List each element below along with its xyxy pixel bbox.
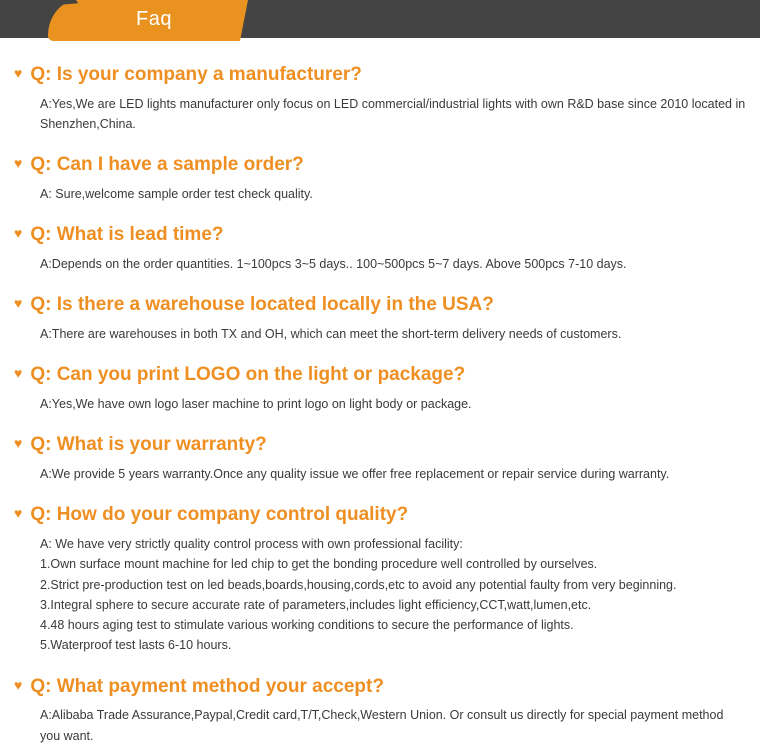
faq-answer-line: 5.Waterproof test lasts 6-10 hours. <box>40 635 746 655</box>
faq-answer: A:Alibaba Trade Assurance,Paypal,Credit … <box>14 705 746 746</box>
faq-answer-line: 2.Strict pre-production test on led bead… <box>40 575 746 595</box>
faq-question: ♥ Q: How do your company control quality… <box>14 503 746 527</box>
faq-answer-line: 4.48 hours aging test to stimulate vario… <box>40 615 746 635</box>
faq-question: ♥ Q: Can I have a sample order? <box>14 153 746 177</box>
faq-question: ♥ Q: What is lead time? <box>14 223 746 247</box>
faq-question-text: Q: Can you print LOGO on the light or pa… <box>30 363 465 387</box>
faq-item: ♥ Q: Is your company a manufacturer? A:Y… <box>14 63 746 134</box>
faq-answer-line: 3.Integral sphere to secure accurate rat… <box>40 595 746 615</box>
page-title: Faq <box>48 0 248 38</box>
faq-item: ♥ Q: What payment method your accept? A:… <box>14 675 746 746</box>
faq-question-text: Q: Can I have a sample order? <box>30 153 303 177</box>
faq-answer: A:We provide 5 years warranty.Once any q… <box>14 464 746 484</box>
heart-icon: ♥ <box>14 296 22 310</box>
faq-list: ♥ Q: Is your company a manufacturer? A:Y… <box>0 41 760 746</box>
faq-question: ♥ Q: Can you print LOGO on the light or … <box>14 363 746 387</box>
heart-icon: ♥ <box>14 366 22 380</box>
faq-item: ♥ Q: What is lead time? A:Depends on the… <box>14 223 746 274</box>
faq-question-text: Q: Is there a warehouse located locally … <box>30 293 494 317</box>
page-header: Faq <box>0 0 760 41</box>
heart-icon: ♥ <box>14 678 22 692</box>
faq-item: ♥ Q: Can I have a sample order? A: Sure,… <box>14 153 746 204</box>
faq-answer: A: Sure,welcome sample order test check … <box>14 184 746 204</box>
faq-question-text: Q: What payment method your accept? <box>30 675 384 699</box>
faq-question-text: Q: Is your company a manufacturer? <box>30 63 362 87</box>
faq-answer-line-list: A: We have very strictly quality control… <box>14 534 746 656</box>
faq-question: ♥ Q: Is there a warehouse located locall… <box>14 293 746 317</box>
faq-question: ♥ Q: Is your company a manufacturer? <box>14 63 746 87</box>
faq-item: ♥ Q: Is there a warehouse located locall… <box>14 293 746 344</box>
faq-question: ♥ Q: What payment method your accept? <box>14 675 746 699</box>
faq-answer: A:Depends on the order quantities. 1~100… <box>14 254 746 274</box>
faq-answer-line: 1.Own surface mount machine for led chip… <box>40 554 746 574</box>
heart-icon: ♥ <box>14 506 22 520</box>
faq-answer: A:Yes,We have own logo laser machine to … <box>14 394 746 414</box>
heart-icon: ♥ <box>14 156 22 170</box>
heart-icon: ♥ <box>14 436 22 450</box>
faq-answer-line: A: We have very strictly quality control… <box>40 534 746 554</box>
faq-question-text: Q: How do your company control quality? <box>30 503 408 527</box>
faq-answer: A:Yes,We are LED lights manufacturer onl… <box>14 94 746 135</box>
heart-icon: ♥ <box>14 226 22 240</box>
faq-question-text: Q: What is lead time? <box>30 223 223 247</box>
heart-icon: ♥ <box>14 66 22 80</box>
faq-answer: A:There are warehouses in both TX and OH… <box>14 324 746 344</box>
faq-item: ♥ Q: How do your company control quality… <box>14 503 746 655</box>
faq-item: ♥ Q: Can you print LOGO on the light or … <box>14 363 746 414</box>
faq-item: ♥ Q: What is your warranty? A:We provide… <box>14 433 746 484</box>
faq-question: ♥ Q: What is your warranty? <box>14 433 746 457</box>
faq-question-text: Q: What is your warranty? <box>30 433 266 457</box>
